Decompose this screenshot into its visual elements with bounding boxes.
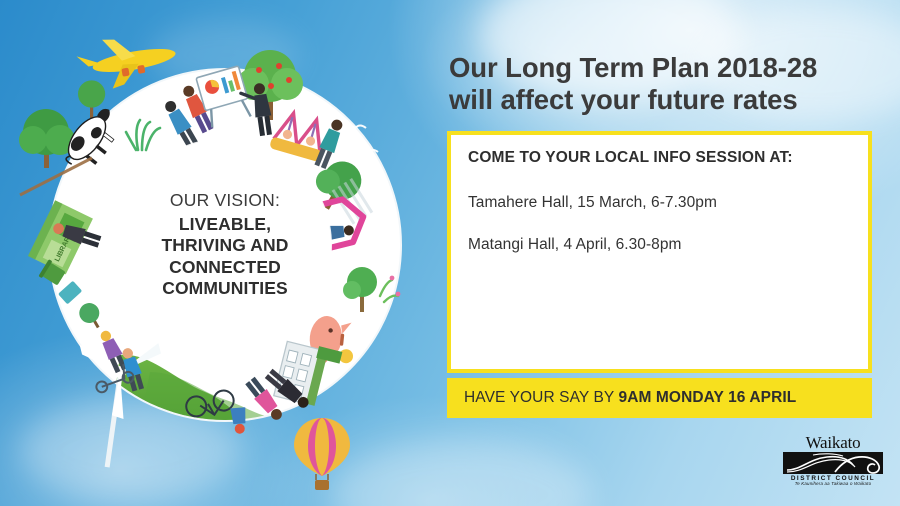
headline-line-2: will affect your future rates	[449, 84, 879, 116]
vision-statement-circle: OUR VISION: LIVEABLE, THRIVING AND CONNE…	[119, 139, 331, 351]
waikato-swirl-mark	[783, 452, 883, 474]
cyclist-figure	[230, 407, 247, 434]
poster-canvas: LIBRARY	[0, 0, 900, 506]
info-session-box: COME TO YOUR LOCAL INFO SESSION AT: Tama…	[447, 131, 872, 373]
deadline-text: HAVE YOUR SAY BY 9AM MONDAY 16 APRIL	[464, 389, 796, 407]
waikato-district-council-logo: Waikato DISTRICT COUNCIL Te Kaunihera aa…	[783, 434, 883, 490]
logo-maori-tagline: Te Kaunihera aa Takiwaa o Waikato	[783, 482, 883, 487]
list-item: Tamahere Hall, 15 March, 6-7.30pm	[468, 193, 858, 213]
vision-line-1: LIVEABLE,	[162, 214, 289, 235]
info-session-list: Tamahere Hall, 15 March, 6-7.30pm Matang…	[468, 193, 858, 277]
vision-body-text: LIVEABLE, THRIVING AND CONNECTED COMMUNI…	[162, 214, 289, 299]
deadline-banner: HAVE YOUR SAY BY 9AM MONDAY 16 APRIL	[447, 378, 872, 418]
deadline-date: 9AM MONDAY 16 APRIL	[618, 389, 796, 406]
deadline-prefix: HAVE YOUR SAY BY	[464, 389, 618, 406]
vision-lead-text: OUR VISION:	[170, 190, 280, 211]
logo-wordmark: Waikato	[783, 434, 883, 451]
headline-line-1: Our Long Term Plan 2018-28	[449, 52, 879, 84]
info-session-title: COME TO YOUR LOCAL INFO SESSION AT:	[468, 149, 858, 167]
hot-air-balloon-icon	[294, 418, 350, 490]
vision-line-4: COMMUNITIES	[162, 278, 289, 299]
page-title: Our Long Term Plan 2018-28 will affect y…	[449, 52, 879, 116]
vision-line-2: THRIVING AND	[162, 235, 289, 256]
vision-line-3: CONNECTED	[162, 257, 289, 278]
list-item: Matangi Hall, 4 April, 6.30-8pm	[468, 235, 858, 255]
